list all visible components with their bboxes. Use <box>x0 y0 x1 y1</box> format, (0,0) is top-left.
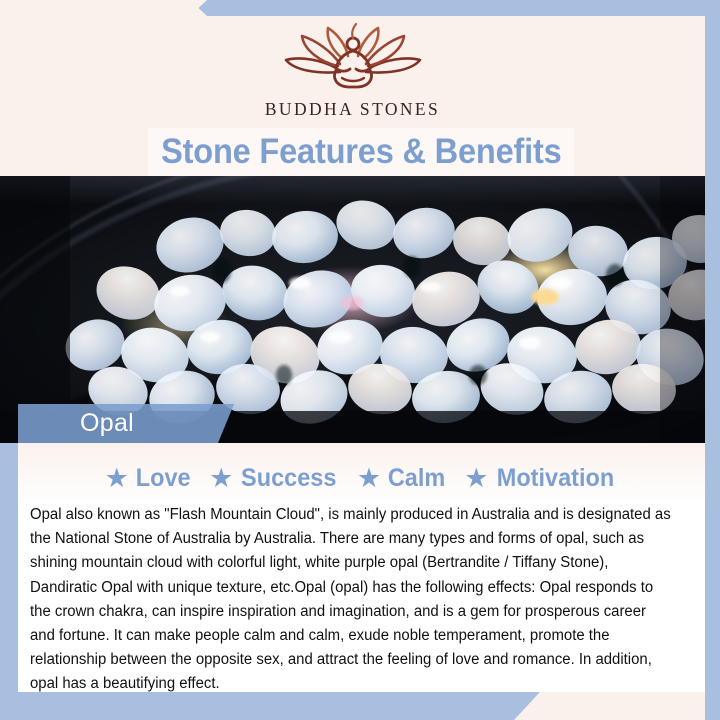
stone-name-text: Opal <box>80 409 134 438</box>
frame-top-blue-bar <box>190 0 720 16</box>
benefit-label: Success <box>241 464 336 493</box>
star-icon: ★ <box>105 465 129 492</box>
benefit-item: ★ Motivation <box>464 464 618 493</box>
frame-right-blue-bar <box>705 0 720 720</box>
star-icon: ★ <box>464 465 488 492</box>
benefit-label: Motivation <box>497 464 615 493</box>
page-title: Stone Features & Benefits <box>161 132 562 172</box>
description-panel: ★ Love ★ Success ★ Calm ★ Motivation Opa… <box>18 443 705 692</box>
benefit-item: ★ Calm <box>357 464 447 493</box>
brand-logo: BUDDHA STONES <box>0 22 705 120</box>
promo-card: Opal <box>0 0 720 720</box>
opal-stones-photo <box>0 175 720 443</box>
benefit-item: ★ Success <box>209 464 340 493</box>
description-text: Opal also known as "Flash Mountain Cloud… <box>30 503 674 697</box>
benefit-label: Love <box>136 464 191 493</box>
frame-left-blue-bar <box>0 443 18 693</box>
stone-name-badge: Opal <box>18 404 234 443</box>
benefits-list: ★ Love ★ Success ★ Calm ★ Motivation <box>18 464 705 493</box>
benefit-item: ★ Love <box>105 464 193 493</box>
star-icon: ★ <box>209 465 233 492</box>
star-icon: ★ <box>357 465 381 492</box>
lotus-meditation-icon <box>278 22 428 94</box>
benefit-label: Calm <box>388 464 445 493</box>
brand-name: BUDDHA STONES <box>265 99 440 120</box>
section-title-plate: Stone Features & Benefits <box>148 128 574 176</box>
